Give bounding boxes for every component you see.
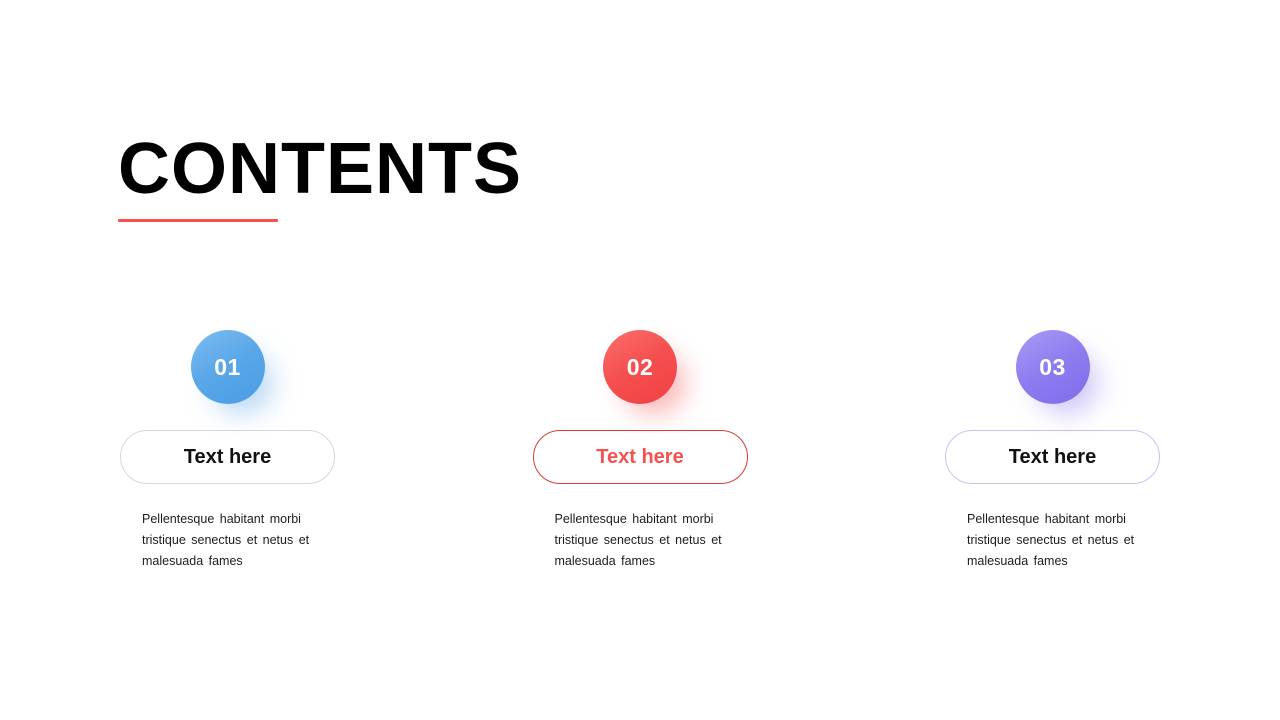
number-badge-02[interactable]: 02	[603, 330, 677, 404]
number-badge-label-02: 02	[627, 354, 654, 381]
title-block: CONTENTS	[118, 133, 522, 222]
badge-wrapper-03: 03	[945, 325, 1160, 417]
page-title: CONTENTS	[118, 133, 522, 206]
text-here-button-01[interactable]: Text here	[120, 430, 335, 484]
description-text-02: Pellentesque habitant morbi tristique se…	[555, 509, 745, 572]
text-here-button-label-02: Text here	[596, 446, 683, 469]
badge-wrapper-01: 01	[120, 325, 335, 417]
text-here-button-label-03: Text here	[1009, 446, 1096, 469]
description-text-03: Pellentesque habitant morbi tristique se…	[967, 509, 1157, 572]
text-here-button-03[interactable]: Text here	[945, 430, 1160, 484]
contents-columns: 01 Text here Pellentesque habitant morbi…	[120, 325, 1160, 572]
text-here-button-02[interactable]: Text here	[533, 430, 748, 484]
content-item-01: 01 Text here Pellentesque habitant morbi…	[120, 325, 335, 572]
number-badge-01[interactable]: 01	[191, 330, 265, 404]
number-badge-label-03: 03	[1039, 354, 1066, 381]
contents-slide: CONTENTS 01 Text here Pellentesque habit…	[0, 0, 1280, 720]
title-underline-rule	[118, 219, 278, 222]
number-badge-03[interactable]: 03	[1016, 330, 1090, 404]
description-text-01: Pellentesque habitant morbi tristique se…	[142, 509, 332, 572]
content-item-03: 03 Text here Pellentesque habitant morbi…	[945, 325, 1160, 572]
content-item-02: 02 Text here Pellentesque habitant morbi…	[533, 325, 748, 572]
number-badge-label-01: 01	[214, 354, 241, 381]
badge-wrapper-02: 02	[533, 325, 748, 417]
text-here-button-label-01: Text here	[184, 446, 271, 469]
